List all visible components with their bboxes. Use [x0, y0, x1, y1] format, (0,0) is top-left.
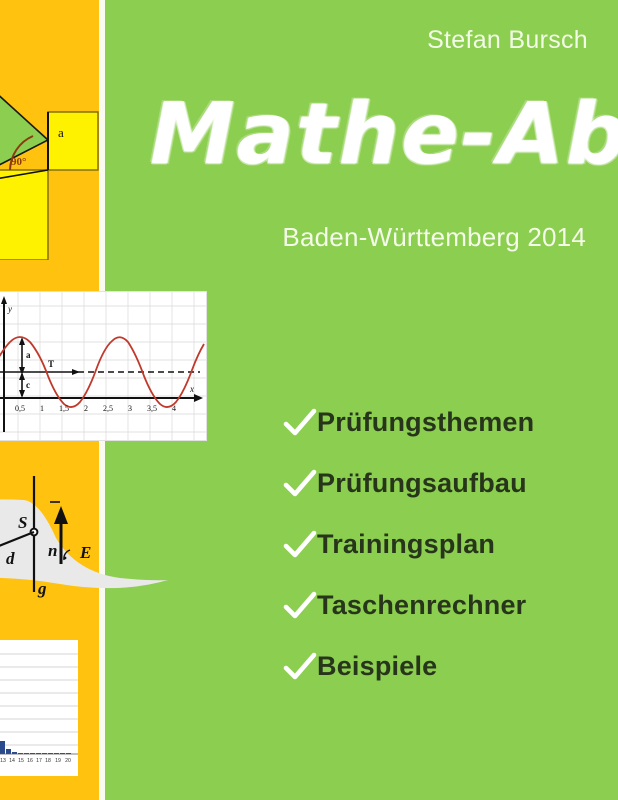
- feature-item-beispiele: Beispiele: [283, 636, 603, 697]
- x-axis-label: x: [189, 384, 194, 394]
- point-label-S: S: [18, 513, 27, 532]
- hist-tick-1: 14: [9, 758, 15, 764]
- feature-label: Trainingsplan: [317, 529, 495, 560]
- sine-graph-svg: y x T a c 0,5 1 1,5: [0, 292, 206, 440]
- notebook-histogram-panel: 13 14 15 16 17 18 19 20: [0, 640, 78, 776]
- book-subtitle: Baden-Württemberg 2014: [282, 222, 586, 253]
- histogram-bars: [0, 741, 71, 754]
- feature-label: Taschenrechner: [317, 590, 526, 621]
- side-label-a: a: [58, 125, 64, 140]
- check-icon: [283, 530, 317, 560]
- x-tick-labels: 0,5 1 1,5 2 2,5 3 3,5 4: [15, 404, 176, 413]
- x-tick-7: 4: [172, 404, 176, 413]
- hist-tick-4: 17: [36, 758, 42, 764]
- x-axis-arrow: [194, 394, 203, 402]
- normal-vector-arrowhead: [54, 506, 68, 524]
- feature-item-pruefungsthemen: Prüfungsthemen: [283, 392, 603, 453]
- offset-arrowhead-up: [19, 372, 25, 380]
- y-axis-label: y: [7, 304, 12, 314]
- check-icon: [283, 591, 317, 621]
- hist-tick-0: 13: [0, 758, 6, 764]
- feature-item-trainingsplan: Trainingsplan: [283, 514, 603, 575]
- normal-label-n: n: [48, 541, 57, 560]
- feature-label: Prüfungsaufbau: [317, 468, 527, 499]
- feature-item-taschenrechner: Taschenrechner: [283, 575, 603, 636]
- check-icon: [283, 652, 317, 682]
- amplitude-label-a: a: [26, 350, 31, 360]
- feature-label: Beispiele: [317, 651, 437, 682]
- author-name: Stefan Bursch: [427, 26, 588, 55]
- histogram-tick-labels: 13 14 15 16 17 18 19 20: [0, 758, 71, 764]
- offset-label-c: c: [26, 380, 30, 390]
- hist-tick-6: 19: [55, 758, 61, 764]
- distance-label-d: d: [6, 549, 15, 568]
- line-label-g: g: [37, 579, 47, 598]
- x-tick-1: 1: [40, 404, 44, 413]
- angle-label-90: 90°: [11, 156, 26, 168]
- feature-list: Prüfungsthemen Prüfungsaufbau Trainingsp…: [283, 392, 603, 697]
- notebook-histogram-svg: 13 14 15 16 17 18 19 20: [0, 640, 78, 776]
- x-tick-3: 2: [84, 404, 88, 413]
- hist-tick-2: 15: [18, 758, 24, 764]
- check-icon: [283, 408, 317, 438]
- sine-graph-panel: y x T a c 0,5 1 1,5: [0, 292, 206, 440]
- pythagoras-figure: a 90°: [0, 0, 100, 260]
- hist-tick-3: 16: [27, 758, 33, 764]
- notebook-rules: [0, 654, 78, 745]
- check-icon: [283, 469, 317, 499]
- x-tick-5: 3: [128, 404, 132, 413]
- hist-tick-5: 18: [45, 758, 51, 764]
- hist-tick-7: 20: [65, 758, 71, 764]
- x-tick-2: 1,5: [59, 404, 69, 413]
- plane-vector-figure: g n E S d: [0, 462, 170, 620]
- x-tick-4: 2,5: [103, 404, 113, 413]
- feature-label: Prüfungsthemen: [317, 407, 534, 438]
- period-label-T: T: [48, 359, 54, 369]
- book-title: Mathe-Abi: [150, 82, 600, 187]
- graph-grid: [0, 292, 206, 440]
- x-tick-0: 0,5: [15, 404, 25, 413]
- offset-arrowhead-down: [19, 390, 25, 398]
- x-tick-6: 3,5: [147, 404, 157, 413]
- right-angle-dot: [64, 557, 67, 560]
- plane-label-E: E: [79, 543, 91, 562]
- book-cover: a 90°: [0, 0, 618, 800]
- y-axis-arrow: [1, 296, 7, 304]
- feature-item-pruefungsaufbau: Prüfungsaufbau: [283, 453, 603, 514]
